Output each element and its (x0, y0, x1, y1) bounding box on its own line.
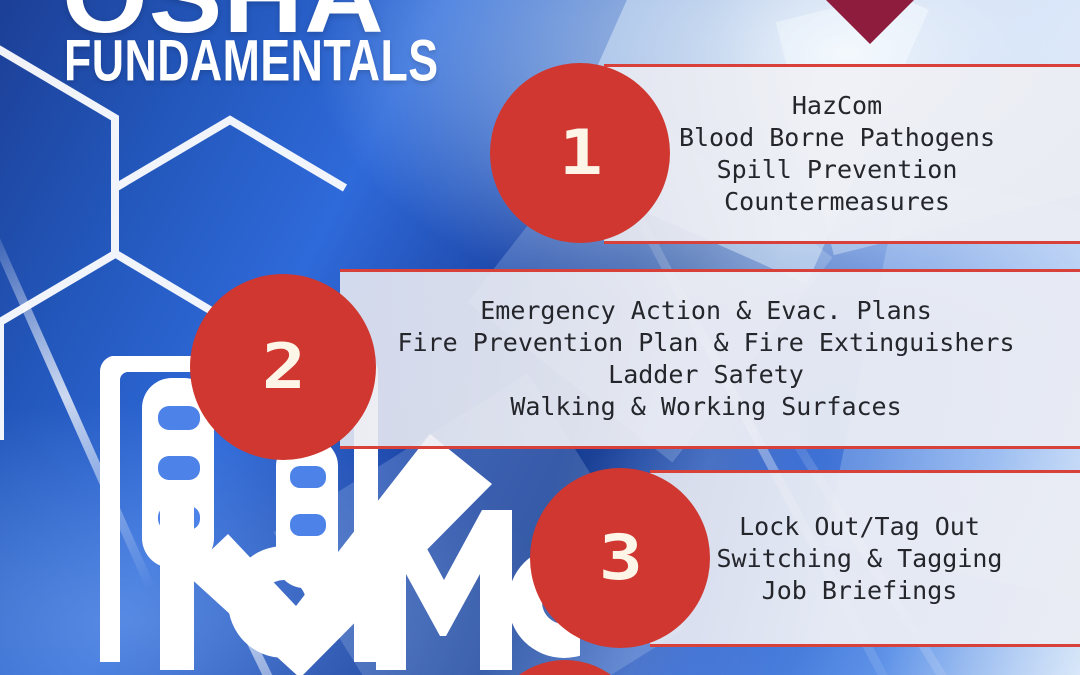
page-title-secondary: FUNDAMENTALS (64, 28, 438, 95)
section-text-3: Lock Out/Tag Out Switching & Tagging Job… (657, 511, 1072, 607)
poster-canvas: OSHA FUNDAMENTALS HazCom Blood Borne Pat… (0, 0, 1080, 675)
section-number-2: 2 (262, 336, 304, 398)
section-badge-1[interactable]: 1 (490, 63, 670, 243)
decorative-letterforms (150, 470, 580, 675)
logo-maroon-diamond-icon (810, 0, 930, 44)
company-logo[interactable] (808, 0, 1058, 48)
section-number-1: 1 (559, 122, 601, 184)
section-badge-2[interactable]: 2 (190, 274, 376, 460)
section-number-3: 3 (599, 527, 641, 589)
section-text-1: HazCom Blood Borne Pathogens Spill Preve… (612, 90, 1072, 218)
section-panel-3: Lock Out/Tag Out Switching & Tagging Job… (650, 470, 1080, 647)
section-badge-3[interactable]: 3 (530, 468, 710, 648)
section-text-2: Emergency Action & Evac. Plans Fire Prev… (346, 295, 1076, 423)
section-panel-2: Emergency Action & Evac. Plans Fire Prev… (340, 269, 1080, 449)
section-panel-1: HazCom Blood Borne Pathogens Spill Preve… (604, 64, 1080, 244)
